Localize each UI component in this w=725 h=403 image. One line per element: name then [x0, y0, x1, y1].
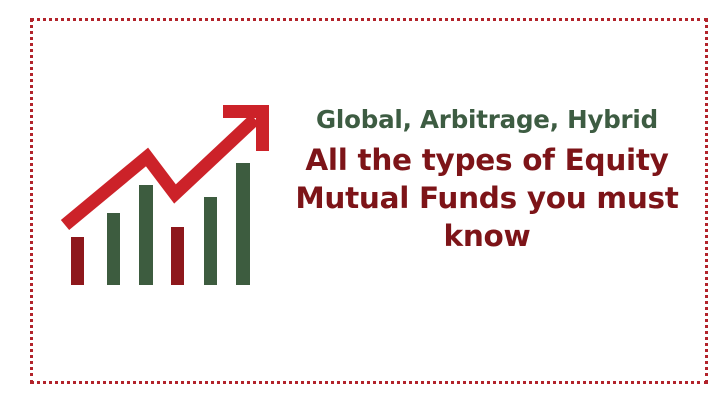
bar-4	[171, 227, 184, 285]
headline-line-1: All the types of Equity	[292, 141, 682, 179]
bar-6	[236, 163, 250, 285]
page-title: All the types of Equity Mutual Funds you…	[292, 141, 682, 255]
bar-5	[204, 197, 217, 285]
bar-2	[107, 213, 120, 285]
headline-line-3: know	[292, 217, 682, 255]
subtitle: Global, Arbitrage, Hybrid	[292, 104, 682, 135]
bar-3	[139, 185, 153, 285]
bar-1	[71, 237, 84, 285]
growth-chart-illustration	[55, 95, 285, 305]
headline-line-2: Mutual Funds you must	[292, 179, 682, 217]
text-block: Global, Arbitrage, Hybrid All the types …	[292, 104, 682, 256]
poster-canvas: Global, Arbitrage, Hybrid All the types …	[0, 0, 725, 403]
